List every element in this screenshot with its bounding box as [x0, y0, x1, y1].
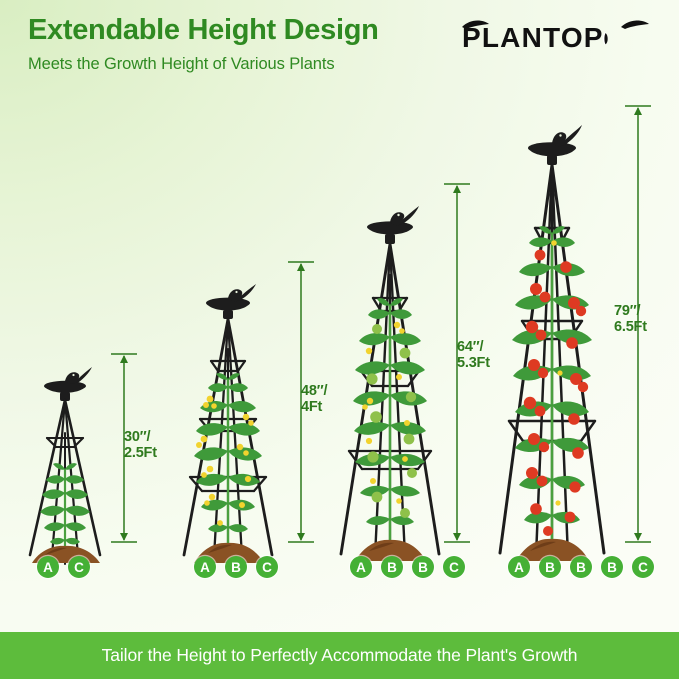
leaf-icon — [621, 21, 649, 29]
badge-row-config-2: A B C — [194, 556, 278, 578]
badge-c[interactable]: C — [68, 556, 90, 578]
trellis-config-3 — [325, 201, 455, 569]
dimension-inches-1: 30″/ — [124, 430, 157, 446]
badge-b-1[interactable]: B — [539, 556, 561, 578]
trellis-config-4 — [482, 121, 622, 569]
dimension-feet-1: 2.5Ft — [124, 446, 157, 462]
badge-row-config-4: A B B B C — [508, 556, 654, 578]
trellis-config-2 — [168, 279, 288, 569]
banner-text: Tailor the Height to Perfectly Accommoda… — [102, 645, 578, 666]
badge-b-2[interactable]: B — [570, 556, 592, 578]
arrow-down-icon — [120, 533, 128, 541]
bird-finial-icon — [206, 284, 256, 319]
badge-c[interactable]: C — [256, 556, 278, 578]
page-subtitle: Meets the Growth Height of Various Plant… — [28, 55, 335, 74]
arrow-up-icon — [297, 263, 305, 271]
arrow-down-icon — [297, 533, 305, 541]
plant-foliage-4 — [512, 226, 592, 557]
bottom-banner: Tailor the Height to Perfectly Accommoda… — [0, 632, 679, 679]
dimension-marker-3: 64″/ 5.3Ft — [437, 182, 477, 544]
dimension-feet-2: 4Ft — [301, 400, 327, 416]
header: Extendable Height Design Meets the Growt… — [0, 0, 679, 92]
badge-b-3[interactable]: B — [601, 556, 623, 578]
badge-row-config-3: A B B C — [350, 556, 465, 578]
dimension-marker-4: 79″/ 6.5Ft — [618, 104, 658, 544]
bird-finial-icon — [44, 367, 92, 401]
badge-b-2[interactable]: B — [412, 556, 434, 578]
dimension-marker-2: 48″/ 4Ft — [281, 260, 321, 544]
bird-finial-icon — [528, 125, 582, 165]
dimension-marker-1: 30″/ 2.5Ft — [104, 352, 144, 544]
brand-wordmark: PLANTOP — [462, 22, 604, 52]
dimension-feet-3: 5.3Ft — [457, 356, 490, 372]
badge-c[interactable]: C — [632, 556, 654, 578]
dimension-feet-4: 6.5Ft — [614, 320, 647, 336]
badge-a[interactable]: A — [37, 556, 59, 578]
dimension-inches-2: 48″/ — [301, 384, 327, 400]
badge-c[interactable]: C — [443, 556, 465, 578]
badge-b[interactable]: B — [225, 556, 247, 578]
badge-b-1[interactable]: B — [381, 556, 403, 578]
plant-foliage-3 — [353, 298, 427, 557]
arrow-down-icon — [634, 533, 642, 541]
dimension-inches-3: 64″/ — [457, 340, 490, 356]
arrow-up-icon — [120, 355, 128, 363]
bird-finial-icon — [367, 206, 419, 244]
arrow-up-icon — [634, 107, 642, 115]
badge-a[interactable]: A — [508, 556, 530, 578]
badge-a[interactable]: A — [350, 556, 372, 578]
badge-row-config-1: A C — [37, 556, 90, 578]
plant-foliage-2 — [194, 373, 262, 559]
arrow-up-icon — [453, 185, 461, 193]
page-title: Extendable Height Design — [28, 14, 379, 47]
badge-a[interactable]: A — [194, 556, 216, 578]
infographic-canvas: Extendable Height Design Meets the Growt… — [0, 0, 679, 679]
arrow-down-icon — [453, 533, 461, 541]
dimension-inches-4: 79″/ — [614, 304, 647, 320]
brand-logo: PLANTOP — [456, 18, 656, 52]
